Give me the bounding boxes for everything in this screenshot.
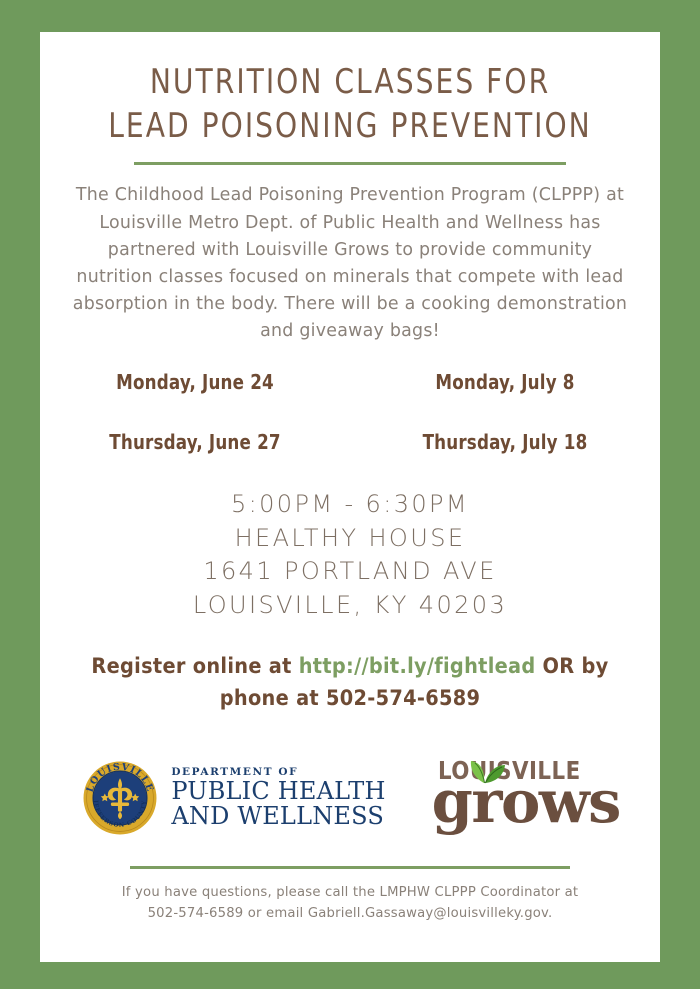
footer-line-2: 502-574-6589 or email Gabriell.Gassaway@…: [74, 903, 626, 924]
louisville-metro-dphw-logo: LOUISVILLE JEFFERSON COUNTY DEPARTM: [82, 760, 385, 836]
page-title-line-1: NUTRITION CLASSES FOR: [65, 60, 635, 104]
venue-block: 5:00PM - 6:30PM HEALTHY HOUSE 1641 PORTL…: [40, 488, 660, 622]
louisville-metro-seal-icon: LOUISVILLE JEFFERSON COUNTY: [82, 760, 158, 836]
venue-city-state-zip: LOUISVILLE, KY 40203: [40, 589, 660, 623]
venue-name: HEALTHY HOUSE: [40, 522, 660, 556]
title-divider: [134, 162, 566, 165]
venue-street: 1641 PORTLAND AVE: [40, 555, 660, 589]
dphw-line-2: PUBLIC HEALTH: [171, 779, 385, 804]
registration-url[interactable]: http://bit.ly/fightlead: [299, 654, 536, 679]
class-date: Monday, June 24: [51, 370, 339, 394]
registration-info: Register online at http://bit.ly/fightle…: [66, 651, 634, 716]
class-dates-grid: Monday, June 24 Monday, July 8 Thursday,…: [40, 370, 660, 454]
page-title-line-2: LEAD POISONING PREVENTION: [65, 104, 635, 148]
intro-paragraph: The Childhood Lead Poisoning Prevention …: [68, 182, 632, 345]
registration-phone: 502-574-6589: [326, 686, 480, 711]
title-block: NUTRITION CLASSES FOR LEAD POISONING PRE…: [40, 32, 660, 165]
class-date: Monday, July 8: [361, 370, 649, 394]
class-date: Thursday, July 18: [361, 430, 649, 454]
louisville-grows-logo: LOUISVILLE grows: [430, 750, 618, 846]
footer-divider-wrap: [40, 866, 660, 869]
logo-row: LOUISVILLE JEFFERSON COUNTY DEPARTM: [40, 750, 660, 846]
dphw-wordmark: DEPARTMENT OF PUBLIC HEALTH AND WELLNESS: [171, 766, 385, 830]
register-prefix: Register online at: [91, 654, 298, 679]
dphw-line-3: AND WELLNESS: [171, 804, 385, 829]
footer-divider: [130, 866, 570, 869]
flyer-card: NUTRITION CLASSES FOR LEAD POISONING PRE…: [40, 32, 660, 962]
event-time: 5:00PM - 6:30PM: [40, 488, 660, 522]
class-date: Thursday, June 27: [51, 430, 339, 454]
footer-contact: If you have questions, please call the L…: [74, 882, 626, 925]
grows-bottom-word: grows: [432, 772, 620, 831]
footer-line-1: If you have questions, please call the L…: [74, 882, 626, 903]
